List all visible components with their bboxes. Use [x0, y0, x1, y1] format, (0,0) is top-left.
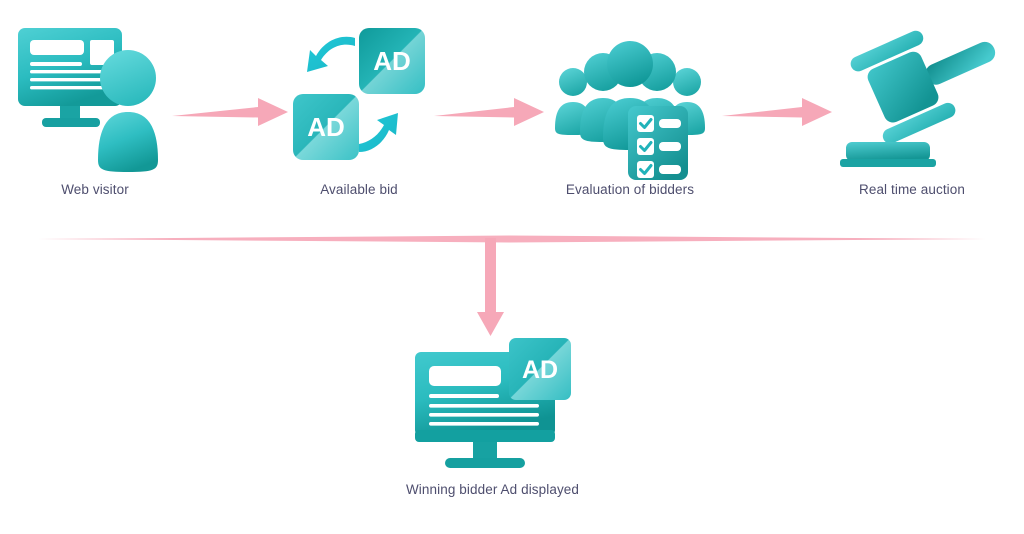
checklist-icon — [628, 106, 688, 180]
arrow-web-visitor-to-available-bid — [172, 96, 290, 130]
label-real-time-auction: Real time auction — [832, 182, 992, 197]
two-ad-cards-with-curved-arrows-icon: AD AD — [285, 20, 433, 180]
label-evaluation-of-bidders: Evaluation of bidders — [545, 182, 715, 197]
monitor-with-person-icon — [10, 20, 180, 180]
svg-text:AD: AD — [307, 112, 345, 142]
node-web-visitor[interactable]: Web visitor — [10, 20, 180, 180]
people-group-with-checklist-icon — [545, 20, 715, 180]
diagram-canvas: Web visitor — [0, 0, 1024, 534]
divider-line — [38, 236, 986, 243]
label-web-visitor: Web visitor — [10, 182, 180, 197]
curved-arrow-down-left-icon — [307, 37, 355, 72]
monitor-with-ad-card-icon: AD — [405, 334, 580, 479]
label-winning-bidder: Winning bidder Ad displayed — [375, 482, 610, 497]
arrow-down-icon — [477, 238, 504, 336]
svg-text:AD: AD — [522, 356, 558, 384]
node-winning-bidder[interactable]: AD Winning bidder Ad displayed — [405, 334, 580, 479]
node-real-time-auction[interactable]: Real time auction — [832, 20, 992, 180]
sound-block-icon — [840, 142, 936, 167]
arrow-available-bid-to-evaluation — [434, 96, 546, 130]
arrow-evaluation-to-auction — [722, 96, 834, 130]
curved-arrow-up-right-icon — [359, 113, 398, 152]
divider-and-down-arrow — [30, 226, 994, 346]
node-evaluation-of-bidders[interactable]: Evaluation of bidders — [545, 20, 715, 180]
label-available-bid: Available bid — [285, 182, 433, 197]
gavel-with-block-icon — [832, 20, 992, 180]
node-available-bid[interactable]: AD AD Available bid — [285, 20, 433, 180]
svg-text:AD: AD — [373, 46, 411, 76]
